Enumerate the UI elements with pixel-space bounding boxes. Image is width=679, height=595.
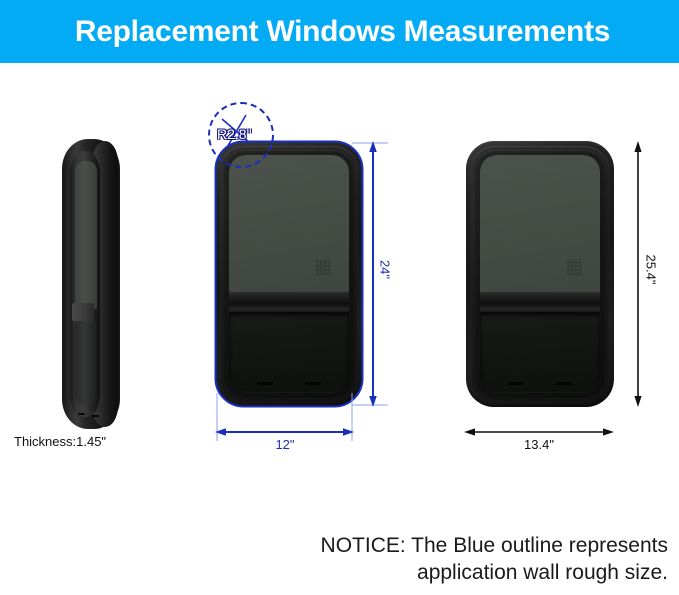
dim-arrow-down bbox=[634, 396, 641, 407]
window-cavity bbox=[229, 155, 349, 393]
window-front-view-rough-opening bbox=[215, 141, 363, 407]
window-glass-pane bbox=[480, 155, 600, 293]
window-cavity bbox=[480, 155, 600, 393]
window-lower-panel bbox=[480, 313, 600, 393]
side-glass-pane bbox=[75, 161, 97, 309]
window-slider-rail bbox=[229, 291, 349, 313]
radius-dimension-label: R2.8" bbox=[217, 126, 252, 142]
width-dimension-label-134: 13.4" bbox=[509, 438, 569, 451]
dim-arrow-down bbox=[369, 396, 377, 407]
dim-arrow-left bbox=[464, 428, 475, 435]
window-vent-slot bbox=[556, 382, 572, 385]
notice-line-2: application wall rough size. bbox=[232, 559, 668, 586]
window-lower-panel bbox=[229, 313, 349, 393]
header-banner: Replacement Windows Measurements bbox=[0, 0, 679, 63]
dim-arrow-right bbox=[603, 428, 614, 435]
window-vent-slot bbox=[305, 382, 321, 385]
side-lower-panel bbox=[75, 321, 96, 405]
dim-arrow-left bbox=[215, 428, 226, 436]
glass-logo-marking bbox=[567, 259, 582, 275]
window-side-profile-view bbox=[62, 139, 120, 429]
window-vent-slot bbox=[257, 382, 273, 385]
side-latch bbox=[72, 303, 94, 321]
window-slider-rail bbox=[480, 291, 600, 313]
height-dimension-label-24: 24" bbox=[379, 253, 392, 287]
notice-line-1: NOTICE: The Blue outline represents bbox=[232, 532, 668, 559]
dim-arrow-up bbox=[634, 141, 641, 152]
width-dimension-label-12: 12" bbox=[255, 438, 315, 451]
window-glass-pane bbox=[229, 155, 349, 293]
notice-text-block: NOTICE: The Blue outline represents appl… bbox=[232, 532, 668, 587]
height-dimension-label-254: 25.4" bbox=[645, 249, 658, 291]
page-title: Replacement Windows Measurements bbox=[69, 17, 610, 47]
window-vent-slot bbox=[508, 382, 524, 385]
diagram-stage: Thickness:1.45" bbox=[0, 63, 679, 595]
dim-arrow-up bbox=[369, 141, 377, 152]
side-vent-notch bbox=[78, 413, 85, 415]
window-front-view-overall bbox=[466, 141, 614, 407]
thickness-dimension-label: Thickness:1.45" bbox=[14, 434, 184, 449]
dim-arrow-right bbox=[343, 428, 354, 436]
glass-logo-marking bbox=[316, 259, 331, 275]
side-vent-notch bbox=[92, 415, 99, 417]
